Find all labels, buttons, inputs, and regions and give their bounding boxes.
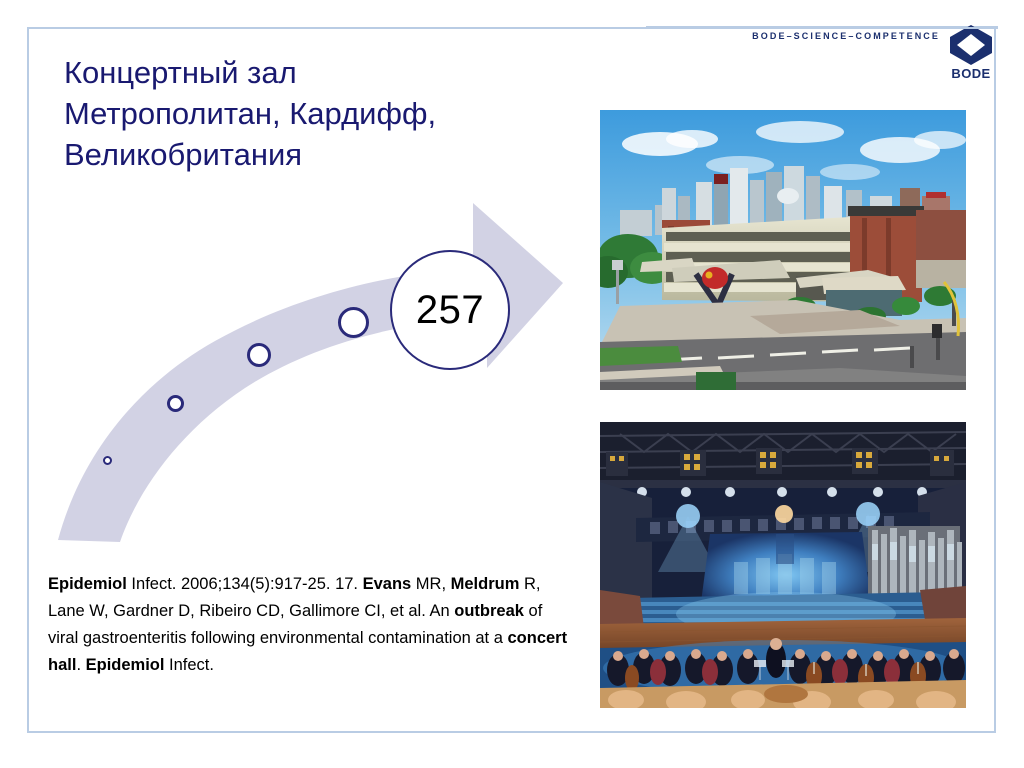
citation-segment-1: Infect. 2006;134(5):917-25. 17. <box>127 575 363 593</box>
citation-segment-0: Epidemiol <box>48 575 127 593</box>
milestone-marker-1 <box>103 456 112 465</box>
value-badge: 257 <box>390 250 510 370</box>
value-badge-label: 257 <box>416 290 484 330</box>
citation-segment-3: MR, <box>411 575 450 593</box>
milestone-marker-3 <box>247 343 271 367</box>
photo-interior-concert-stage <box>600 422 966 708</box>
citation-text: Epidemiol Infect. 2006;134(5):917-25. 17… <box>48 571 568 679</box>
arrow-shape-icon <box>40 190 585 550</box>
citation-segment-9: . <box>76 656 85 674</box>
citation-segment-2: Evans <box>363 575 412 593</box>
bode-wordmark: BODE <box>944 66 998 81</box>
citation-segment-11: Infect. <box>164 656 214 674</box>
title-line-3: Великобритания <box>64 134 574 175</box>
citation-segment-6: outbreak <box>454 602 524 620</box>
brand-tagline: BODE–SCIENCE–COMPETENCE <box>700 31 940 41</box>
bode-logo: BODE <box>944 24 998 86</box>
milestone-marker-4 <box>338 307 369 338</box>
citation-segment-10: Epidemiol <box>86 656 165 674</box>
photo-exterior-aerial-view <box>600 110 966 390</box>
slide: BODE–SCIENCE–COMPETENCE BODE Концертный … <box>0 0 1024 768</box>
page-title: Концертный зал Метрополитан, Кардифф, Ве… <box>64 52 574 175</box>
citation-segment-4: Meldrum <box>451 575 520 593</box>
milestone-marker-2 <box>167 395 184 412</box>
title-line-2: Метрополитан, Кардифф, <box>64 93 574 134</box>
title-line-1: Концертный зал <box>64 52 574 93</box>
bode-hexagon-logo-icon <box>947 24 995 66</box>
growth-arrow-graphic <box>40 190 585 550</box>
